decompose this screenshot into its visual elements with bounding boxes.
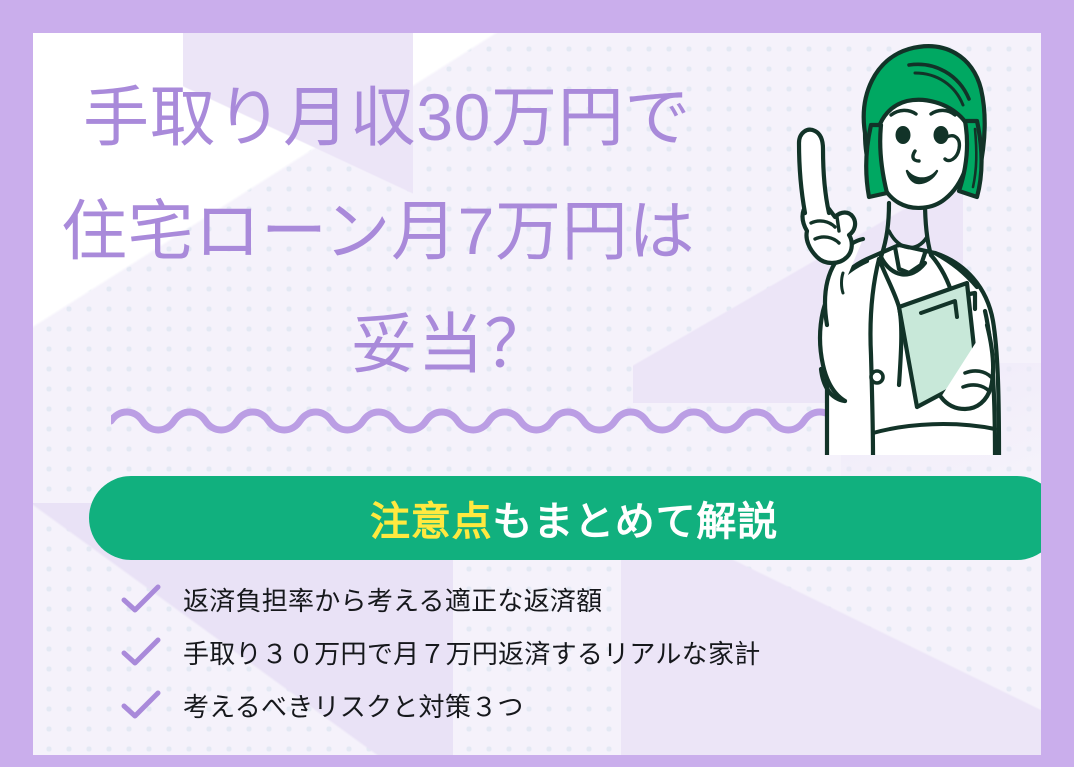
check-icon xyxy=(121,689,161,721)
page-title: 手取り月収30万円で 住宅ローン月7万円は 妥当？ xyxy=(61,61,841,402)
list-item: 考えるべきリスクと対策３つ xyxy=(121,679,1021,731)
eyecatch-card: 手取り月収30万円で 住宅ローン月7万円は 妥当？ 注意点もまとめて解説 返済負… xyxy=(0,0,1074,767)
banner-rest-text: もまとめて解説 xyxy=(492,500,778,544)
content-panel: 手取り月収30万円で 住宅ローン月7万円は 妥当？ 注意点もまとめて解説 返済負… xyxy=(33,33,1041,755)
wavy-underline-icon xyxy=(111,405,853,437)
list-item: 手取り３０万円で月７万円返済するリアルな家計 xyxy=(121,626,1021,678)
list-item-label: 考えるべきリスクと対策３つ xyxy=(183,687,524,724)
bullet-list: 返済負担率から考える適正な返済額 手取り３０万円で月７万円返済するリアルな家計 … xyxy=(121,573,1021,732)
list-item: 返済負担率から考える適正な返済額 xyxy=(121,573,1021,625)
check-icon xyxy=(121,583,161,615)
banner-text: 注意点もまとめて解説 xyxy=(370,489,778,547)
banner-highlight-text: 注意点 xyxy=(370,500,492,544)
highlight-banner: 注意点もまとめて解説 xyxy=(89,476,1041,560)
woman-pointing-up-with-clipboard-illustration xyxy=(749,33,1041,455)
title-line-2: 住宅ローン月7万円は xyxy=(61,175,841,289)
title-line-3: 妥当？ xyxy=(61,288,841,402)
check-icon xyxy=(121,636,161,668)
title-line-1: 手取り月収30万円で xyxy=(61,61,841,175)
list-item-label: 手取り３０万円で月７万円返済するリアルな家計 xyxy=(183,634,760,671)
list-item-label: 返済負担率から考える適正な返済額 xyxy=(183,581,602,618)
